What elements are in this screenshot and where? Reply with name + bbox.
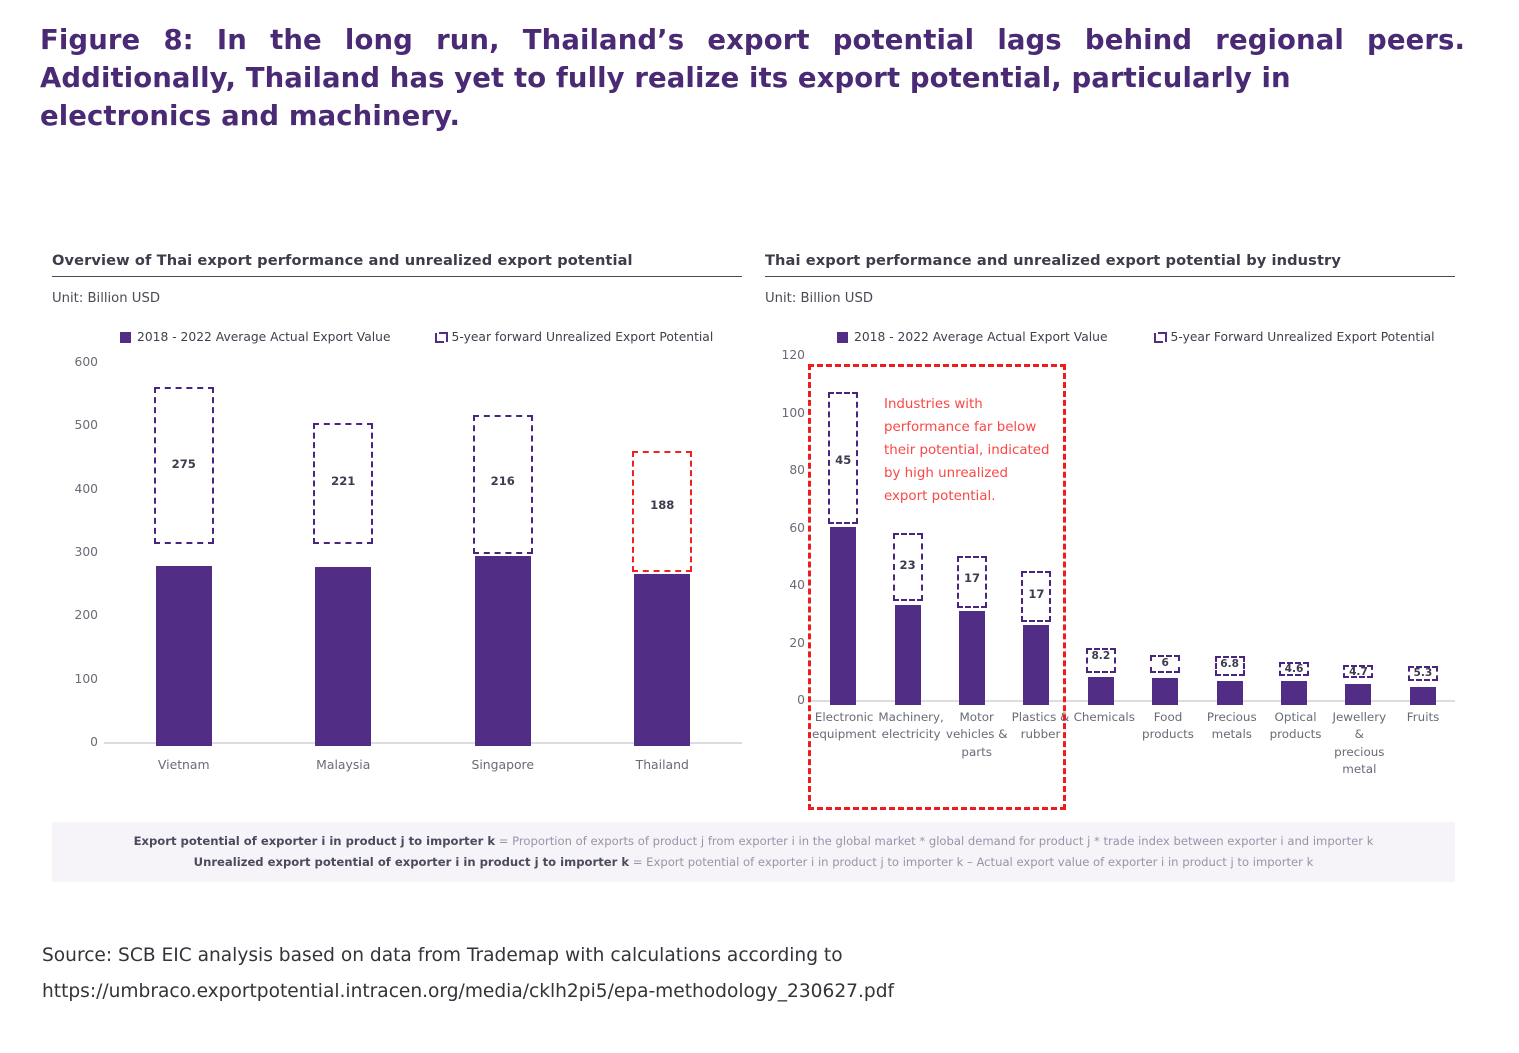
- annotation-line: by high unrealized: [884, 462, 1064, 485]
- x-label-line: equipment: [812, 726, 876, 743]
- bar-actual-thailand: [634, 574, 690, 746]
- bar-value-label: 17: [964, 571, 980, 585]
- annotation-line: their potential, indicated: [884, 439, 1064, 462]
- x-axis-label-precious-metals: Precious metals: [1200, 709, 1264, 778]
- x-label-line: rubber: [1010, 726, 1072, 743]
- annotation-text: Industries with performance far below th…: [884, 393, 1064, 508]
- x-label-line: Plastics &: [1010, 709, 1072, 726]
- y-axis-tick: 40: [769, 578, 805, 592]
- left-chart-bars: 275 221 216 188: [104, 362, 742, 748]
- formula-line-export-potential: Export potential of exporter i in produc…: [134, 831, 1374, 852]
- y-axis-tick: 60: [769, 521, 805, 535]
- left-panel-divider: [52, 276, 742, 277]
- source-note: Source: SCB EIC analysis based on data f…: [42, 938, 1042, 1011]
- x-label-line: Chemicals: [1073, 709, 1135, 726]
- bar-group-food-products[interactable]: 6: [1133, 355, 1197, 707]
- bar-value-label: 6.8: [1220, 658, 1239, 670]
- y-axis-tick: 400: [56, 482, 98, 496]
- legend-item-actual-export: 2018 - 2022 Average Actual Export Value: [837, 330, 1108, 344]
- y-axis-tick: 80: [769, 463, 805, 477]
- x-axis-label-fruits: Fruits: [1391, 709, 1455, 778]
- bar-actual-machinery-electricity: [895, 605, 921, 706]
- y-axis-tick: 0: [769, 693, 805, 707]
- x-axis-label-thailand: Thailand: [583, 756, 743, 774]
- x-label-line: Jewellery: [1328, 709, 1390, 726]
- annotation-line: Industries with: [884, 393, 1064, 416]
- bar-value-label: 188: [650, 498, 674, 512]
- x-label-line: Machinery,: [878, 709, 943, 726]
- bar-group-fruits[interactable]: 5.3: [1391, 355, 1455, 707]
- legend-label-unrealized-potential: 5-year forward Unrealized Export Potenti…: [452, 330, 714, 344]
- bar-actual-chemicals: [1088, 677, 1114, 706]
- bar-group-jewellery[interactable]: 4.7: [1326, 355, 1390, 707]
- bar-actual-jewellery: [1345, 684, 1371, 706]
- x-label-line: Electronic: [812, 709, 876, 726]
- x-label-line: metals: [1201, 726, 1263, 743]
- x-axis-label-jewellery: Jewellery & precious metal: [1327, 709, 1391, 778]
- formula-term: Unrealized export potential of exporter …: [194, 855, 629, 869]
- bar-actual-optical-products: [1281, 681, 1307, 705]
- bar-value-label: 5.3: [1413, 667, 1432, 679]
- x-axis-label-machinery-electricity: Machinery, electricity: [877, 709, 944, 778]
- y-axis-tick: 200: [56, 608, 98, 622]
- figure-title: Figure 8: In the long run, Thailand’s ex…: [40, 22, 1465, 136]
- left-panel-unit: Unit: Billion USD: [52, 291, 742, 306]
- bar-actual-motor-vehicles: [959, 611, 985, 706]
- left-chart-legend: 2018 - 2022 Average Actual Export Value …: [52, 330, 742, 344]
- legend-item-unrealized-potential: 5-year Forward Unrealized Export Potenti…: [1154, 330, 1435, 344]
- y-axis-tick: 600: [56, 355, 98, 369]
- right-chart-legend: 2018 - 2022 Average Actual Export Value …: [765, 330, 1455, 344]
- bar-group-optical-products[interactable]: 4.6: [1262, 355, 1326, 707]
- y-axis-tick: 120: [769, 348, 805, 362]
- x-axis-label-vietnam: Vietnam: [104, 756, 264, 774]
- legend-label-unrealized-potential: 5-year Forward Unrealized Export Potenti…: [1171, 330, 1435, 344]
- left-chart-panel: Overview of Thai export performance and …: [52, 252, 742, 748]
- left-panel-title: Overview of Thai export performance and …: [52, 252, 742, 269]
- x-label-line: products: [1137, 726, 1199, 743]
- bar-actual-malaysia: [315, 567, 371, 746]
- x-axis-label-electronic-equipment: Electronic equipment: [811, 709, 877, 778]
- y-axis-tick: 500: [56, 418, 98, 432]
- legend-label-actual-export: 2018 - 2022 Average Actual Export Value: [137, 330, 391, 344]
- figure-title-line-1: Figure 8: In the long run, Thailand’s ex…: [40, 24, 1465, 56]
- bar-value-label: 45: [835, 453, 851, 467]
- right-chart-x-axis-labels: Electronic equipment Machinery, electric…: [811, 709, 1455, 778]
- right-panel-divider: [765, 276, 1455, 277]
- source-line-1: Source: SCB EIC analysis based on data f…: [42, 938, 1042, 974]
- x-axis-label-plastics-rubber: Plastics & rubber: [1009, 709, 1073, 778]
- dashed-corner-icon: [435, 332, 448, 343]
- bar-value-label: 17: [1028, 587, 1044, 601]
- x-label-line: Precious: [1201, 709, 1263, 726]
- y-axis-tick: 300: [56, 545, 98, 559]
- bar-value-label: 4.7: [1349, 666, 1368, 678]
- y-axis-tick: 100: [56, 672, 98, 686]
- annotation-line: export potential.: [884, 485, 1064, 508]
- bar-actual-electronic-equipment: [830, 527, 856, 705]
- y-axis-tick: 100: [769, 406, 805, 420]
- right-chart-panel: Thai export performance and unrealized e…: [765, 252, 1455, 707]
- bar-actual-fruits: [1410, 687, 1436, 706]
- bar-actual-food-products: [1152, 678, 1178, 705]
- right-chart-plot-area: 120 100 80 60 40 20 0 45 23 17: [765, 355, 1455, 707]
- x-axis-label-motor-vehicles: Motor vehicles & parts: [945, 709, 1009, 778]
- formula-term: Export potential of exporter i in produc…: [134, 834, 495, 848]
- x-label-line: products: [1265, 726, 1327, 743]
- bar-value-label: 4.6: [1285, 663, 1304, 675]
- x-label-line: & precious: [1328, 726, 1390, 761]
- left-chart-plot-area: 600 500 400 300 200 100 0 275 221: [52, 362, 742, 748]
- x-axis-label-malaysia: Malaysia: [264, 756, 424, 774]
- y-axis-tick: 0: [56, 735, 98, 749]
- x-label-line: Optical: [1265, 709, 1327, 726]
- x-axis-label-food-products: Food products: [1136, 709, 1200, 778]
- right-panel-unit: Unit: Billion USD: [765, 291, 1455, 306]
- x-axis-label-chemicals: Chemicals: [1072, 709, 1136, 778]
- bar-actual-singapore: [475, 556, 531, 746]
- annotation-line: performance far below: [884, 416, 1064, 439]
- formula-line-unrealized-potential: Unrealized export potential of exporter …: [194, 852, 1314, 873]
- x-label-line: Motor: [946, 709, 1008, 726]
- bar-actual-plastics-rubber: [1023, 625, 1049, 706]
- filled-square-icon: [837, 332, 848, 343]
- bar-value-label: 23: [900, 558, 916, 572]
- x-label-line: metal: [1328, 761, 1390, 778]
- x-axis-label-optical-products: Optical products: [1264, 709, 1328, 778]
- figure-title-line-3: electronics and machinery.: [40, 98, 1465, 136]
- x-label-line: vehicles &: [946, 726, 1008, 743]
- x-label-line: Food: [1137, 709, 1199, 726]
- bar-group-chemicals[interactable]: 8.2: [1069, 355, 1133, 707]
- bar-value-label: 8.2: [1091, 650, 1110, 662]
- x-label-line: Fruits: [1392, 709, 1454, 726]
- x-label-line: electricity: [878, 726, 943, 743]
- legend-item-actual-export: 2018 - 2022 Average Actual Export Value: [120, 330, 391, 344]
- bar-group-singapore[interactable]: 216: [423, 362, 583, 748]
- left-chart-x-axis-labels: Vietnam Malaysia Singapore Thailand: [104, 756, 742, 774]
- bar-value-label: 216: [491, 474, 515, 488]
- figure-title-line-2: Additionally, Thailand has yet to fully …: [40, 62, 1291, 94]
- bar-group-malaysia[interactable]: 221: [264, 362, 424, 748]
- formula-definition: = Proportion of exports of product j fro…: [495, 834, 1373, 848]
- filled-square-icon: [120, 332, 131, 343]
- bar-value-label: 275: [172, 457, 196, 471]
- formula-footnote-band: Export potential of exporter i in produc…: [52, 822, 1455, 882]
- dashed-corner-icon: [1154, 332, 1167, 343]
- bar-group-thailand[interactable]: 188: [583, 362, 743, 748]
- bar-group-vietnam[interactable]: 275: [104, 362, 264, 748]
- bar-actual-vietnam: [156, 566, 212, 747]
- bar-value-label: 221: [331, 474, 355, 488]
- formula-definition: = Export potential of exporter i in prod…: [629, 855, 1313, 869]
- x-axis-label-singapore: Singapore: [423, 756, 583, 774]
- right-panel-title: Thai export performance and unrealized e…: [765, 252, 1455, 269]
- bar-group-precious-metals[interactable]: 6.8: [1197, 355, 1261, 707]
- legend-label-actual-export: 2018 - 2022 Average Actual Export Value: [854, 330, 1108, 344]
- source-url: https://umbraco.exportpotential.intracen…: [42, 974, 1042, 1010]
- legend-item-unrealized-potential: 5-year forward Unrealized Export Potenti…: [435, 330, 714, 344]
- bar-value-label: 6: [1162, 657, 1169, 669]
- y-axis-tick: 20: [769, 636, 805, 650]
- bar-group-electronic-equipment[interactable]: 45: [811, 355, 875, 707]
- bar-actual-precious-metals: [1217, 681, 1243, 705]
- x-label-line: parts: [946, 744, 1008, 761]
